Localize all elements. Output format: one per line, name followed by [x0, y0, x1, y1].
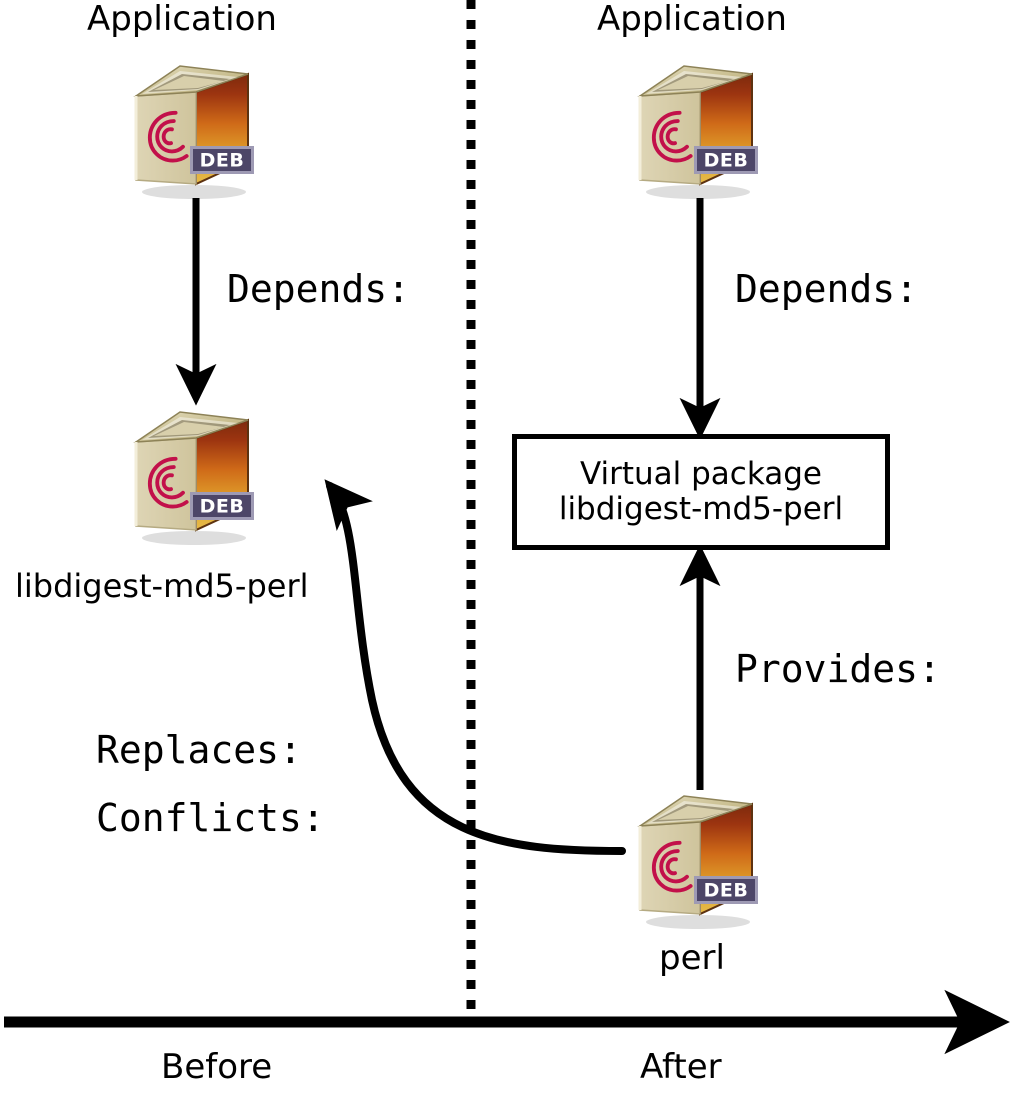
provides-label: Provides: — [735, 650, 941, 688]
libdigest-md5-perl-package-icon — [118, 398, 268, 548]
after-application-package-icon — [622, 52, 772, 202]
perl-label: perl — [659, 941, 725, 975]
virtual-package-line-1: Virtual package — [580, 457, 822, 492]
after-application-label: Application — [597, 2, 787, 36]
virtual-package-box: Virtual package libdigest-md5-perl — [512, 434, 890, 550]
before-application-label: Application — [87, 2, 277, 36]
replaces-label: Replaces: — [96, 731, 302, 769]
after-depends-label: Depends: — [735, 270, 918, 308]
libdigest-md5-perl-label: libdigest-md5-perl — [15, 570, 309, 602]
before-depends-label: Depends: — [227, 270, 410, 308]
before-application-package-icon — [118, 52, 268, 202]
diagram-canvas: DEB Virtual package — [0, 0, 1024, 1094]
conflicts-label: Conflicts: — [96, 799, 325, 837]
timeline-after-label: After — [640, 1050, 722, 1084]
timeline-before-label: Before — [161, 1050, 272, 1084]
perl-package-icon — [622, 782, 772, 932]
virtual-package-line-2: libdigest-md5-perl — [559, 492, 843, 527]
